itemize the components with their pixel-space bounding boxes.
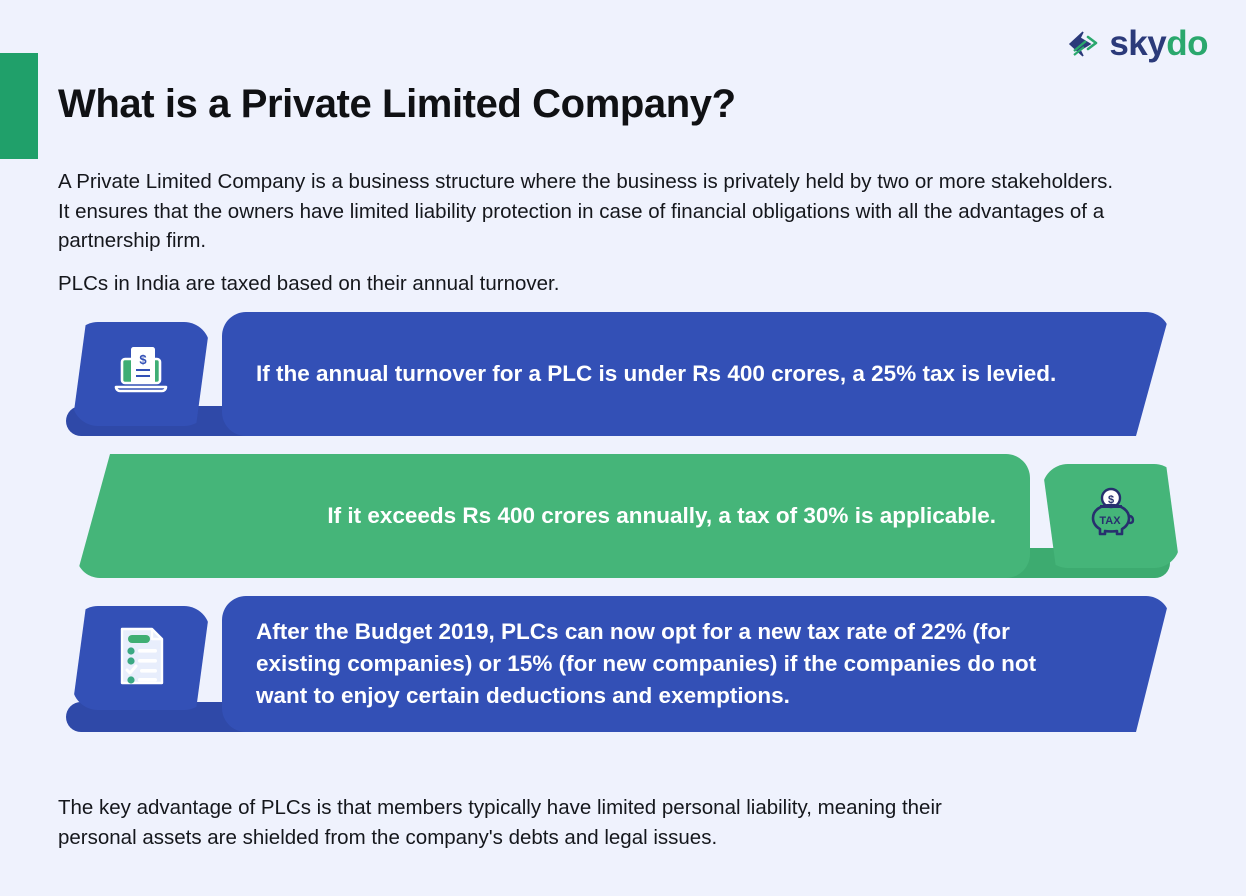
logo-word-do: do xyxy=(1166,24,1208,63)
skydo-logo[interactable]: skydo xyxy=(1068,26,1208,61)
tax-rule-card-1: $ If the annual turnover for a PLC is un… xyxy=(0,312,1246,436)
closing-paragraph: The key advantage of PLCs is that member… xyxy=(58,793,1186,853)
card-2-text: If it exceeds Rs 400 crores annually, a … xyxy=(156,500,996,532)
card-1-icon-badge: $ xyxy=(72,322,210,426)
card-3-body: After the Budget 2019, PLCs can now opt … xyxy=(222,596,1170,732)
intro-section: A Private Limited Company is a business … xyxy=(58,167,1128,298)
card-2-icon-badge: $ TAX xyxy=(1042,464,1180,568)
card-2-body: If it exceeds Rs 400 crores annually, a … xyxy=(76,454,1030,578)
card-3-icon-badge xyxy=(72,606,210,710)
intro-paragraph-2: PLCs in India are taxed based on their a… xyxy=(58,269,1128,299)
svg-text:$: $ xyxy=(139,352,147,367)
skydo-chevron-logo-icon xyxy=(1068,29,1102,59)
checklist-document-icon xyxy=(114,625,168,692)
tax-rule-card-3: After the Budget 2019, PLCs can now opt … xyxy=(0,596,1246,732)
card-1-text: If the annual turnover for a PLC is unde… xyxy=(256,358,1090,390)
left-accent-bar xyxy=(0,53,38,159)
card-3-text: After the Budget 2019, PLCs can now opt … xyxy=(256,616,1090,712)
closing-line-2: personal assets are shielded from the co… xyxy=(58,823,1186,853)
intro-paragraph-1: A Private Limited Company is a business … xyxy=(58,167,1128,256)
logo-wordmark: skydo xyxy=(1109,26,1208,61)
logo-word-sky: sky xyxy=(1109,24,1166,63)
tax-rule-cards: $ If the annual turnover for a PLC is un… xyxy=(0,312,1246,750)
card-1-body: If the annual turnover for a PLC is unde… xyxy=(222,312,1170,436)
tax-rule-card-2: $ TAX If it exceeds Rs 400 crores annual… xyxy=(0,454,1246,578)
page-title: What is a Private Limited Company? xyxy=(58,82,736,127)
closing-line-1: The key advantage of PLCs is that member… xyxy=(58,793,1186,823)
laptop-invoice-dollar-icon: $ xyxy=(110,343,172,406)
svg-text:TAX: TAX xyxy=(1099,515,1121,527)
piggy-bank-tax-icon: $ TAX xyxy=(1082,487,1140,546)
